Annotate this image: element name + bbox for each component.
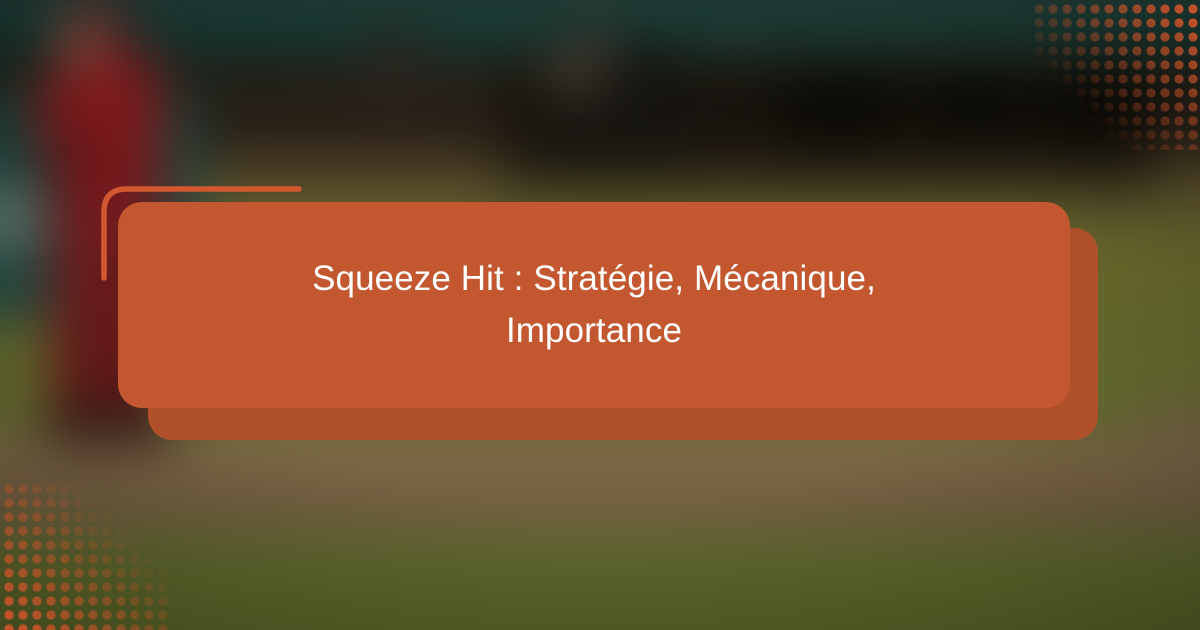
title-card: Squeeze Hit : Stratégie, Mécanique, Impo… xyxy=(118,202,1070,408)
share-card-canvas: Squeeze Hit : Stratégie, Mécanique, Impo… xyxy=(0,0,1200,630)
page-title: Squeeze Hit : Stratégie, Mécanique, Impo… xyxy=(234,253,954,357)
